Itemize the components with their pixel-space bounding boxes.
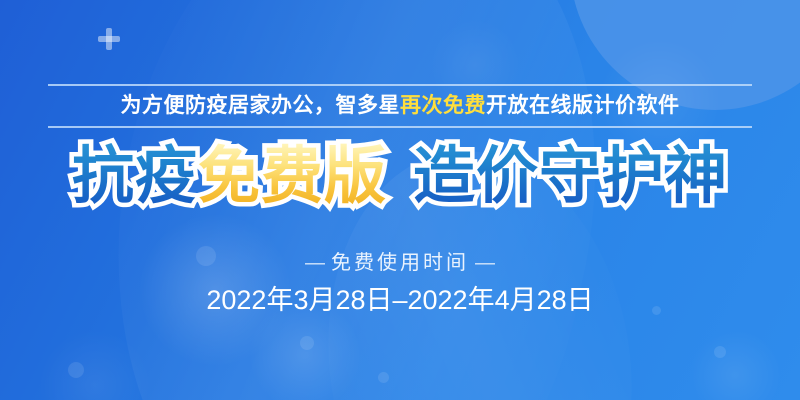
free-period-label: —免费使用时间— [0, 246, 800, 275]
dash-right: — [469, 252, 501, 274]
banner-subtitle: 为方便防疫居家办公，智多星再次免费开放在线版计价软件 [48, 86, 752, 126]
headline-part-2-fill: 免费版 [198, 142, 387, 211]
dash-left: — [299, 252, 331, 274]
subtitle-text-highlight: 再次免费 [400, 94, 486, 117]
free-period-label-text: 免费使用时间 [331, 252, 469, 274]
promo-banner: 为方便防疫居家办公，智多星再次免费开放在线版计价软件 抗疫 抗疫 免费版 免费版… [0, 0, 800, 400]
subtitle-text-before: 为方便防疫居家办公，智多星 [121, 94, 401, 117]
free-period-dates: 2022年3月28日–2022年4月28日 [0, 278, 800, 317]
headline-part-3: 造价守护神 造价守护神 [413, 146, 728, 208]
headline-part-3-fill: 造价守护神 [413, 142, 728, 211]
subtitle-text-after: 开放在线版计价软件 [486, 94, 680, 117]
headline-part-1: 抗疫 抗疫 [72, 146, 198, 208]
rule-bottom [48, 126, 752, 128]
headline-part-1-fill: 抗疫 [72, 142, 198, 211]
banner-headline: 抗疫 抗疫 免费版 免费版 造价守护神 造价守护神 [0, 146, 800, 208]
banner-content: 为方便防疫居家办公，智多星再次免费开放在线版计价软件 抗疫 抗疫 免费版 免费版… [0, 0, 800, 400]
headline-part-2: 免费版 免费版 [198, 146, 387, 208]
subtitle-block: 为方便防疫居家办公，智多星再次免费开放在线版计价软件 [48, 84, 752, 128]
